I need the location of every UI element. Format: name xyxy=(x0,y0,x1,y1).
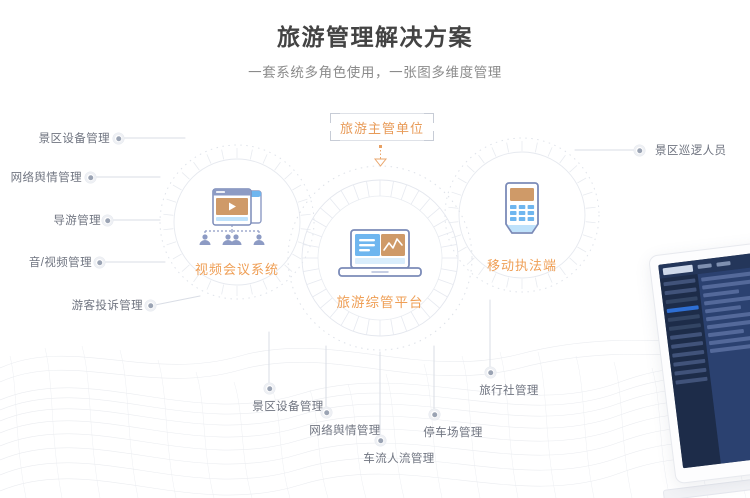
node-dot-bottom-1[interactable] xyxy=(264,383,275,394)
dashboard-sidebar-row xyxy=(672,350,704,358)
node-dot-bottom-5[interactable] xyxy=(485,367,496,378)
node-label-left-5: 游客投诉管理 xyxy=(33,299,143,313)
corner-bracket-tl xyxy=(330,113,340,123)
node-label-left-4: 音/视频管理 xyxy=(0,256,92,270)
dashboard-content-line xyxy=(707,319,750,329)
hub-mobile-enforcement[interactable]: 移动执法端 xyxy=(472,182,572,274)
dashboard-sidebar-row xyxy=(669,323,701,331)
dashboard-topnav-item xyxy=(716,261,730,267)
node-dot-left-1[interactable] xyxy=(113,133,124,144)
solution-infographic: 旅游管理解决方案 一套系统多角色使用，一张图多维度管理 xyxy=(0,0,750,498)
dashboard-topnav-item xyxy=(697,263,711,269)
node-dot-left-5[interactable] xyxy=(145,300,156,311)
hub-video-conference[interactable]: 视频会议系统 xyxy=(177,186,297,278)
box-edge-bottom xyxy=(340,140,424,141)
node-dot-left-4[interactable] xyxy=(94,257,105,268)
dashboard-brand-logo xyxy=(663,264,694,275)
dashboard-sidebar-row-active xyxy=(667,305,699,313)
connector-left-5 xyxy=(155,296,200,305)
node-dot-left-2[interactable] xyxy=(85,172,96,183)
video-window-icon xyxy=(177,186,297,248)
dashboard-screen xyxy=(658,248,750,469)
node-dot-bottom-3[interactable] xyxy=(375,435,386,446)
dashboard-sidebar-row xyxy=(664,287,696,295)
node-label-left-3: 导游管理 xyxy=(0,214,101,228)
node-dot-bottom-4[interactable] xyxy=(429,409,440,420)
dashboard-sidebar-row xyxy=(674,368,706,376)
dashboard-content-line xyxy=(705,305,741,313)
dashboard-content-line xyxy=(708,329,744,337)
authority-box[interactable]: 旅游主管单位 xyxy=(330,113,434,141)
dashboard-sidebar-row xyxy=(670,332,702,340)
dashboard-content-line xyxy=(702,279,750,289)
hub-caption-mobile-enforcement: 移动执法端 xyxy=(472,255,572,274)
laptop-dashboard-icon xyxy=(320,228,440,280)
dashboard-body xyxy=(660,261,750,468)
dashboard-content-line xyxy=(704,295,750,305)
dashboard-sidebar-row xyxy=(675,377,707,385)
node-label-bottom-4: 停车场管理 xyxy=(393,426,513,440)
node-label-bottom-2: 网络舆情管理 xyxy=(285,424,405,438)
hub-caption-video-conference: 视频会议系统 xyxy=(177,259,297,278)
dashboard-sidebar-row xyxy=(671,341,703,349)
dashboard-content-line xyxy=(710,343,750,353)
authority-label: 旅游主管单位 xyxy=(340,118,424,137)
dashboard-content-line xyxy=(703,289,739,297)
box-edge-top xyxy=(340,113,424,114)
node-label-right-1: 景区巡逻人员 xyxy=(655,144,750,158)
node-label-bottom-3: 车流人流管理 xyxy=(339,452,459,466)
node-dot-bottom-2[interactable] xyxy=(321,407,332,418)
dashboard-sidebar-row xyxy=(668,314,700,322)
dashboard-sidebar-row xyxy=(663,278,695,286)
corner-bracket-bl xyxy=(330,131,340,141)
hub-tourism-platform[interactable]: 旅游综管平台 xyxy=(320,228,440,311)
node-label-bottom-5: 旅行社管理 xyxy=(449,384,569,398)
corner-bracket-br xyxy=(424,131,434,141)
handheld-terminal-icon xyxy=(472,182,572,244)
corner-bracket-tr xyxy=(424,113,434,123)
node-dot-right-1[interactable] xyxy=(634,145,645,156)
node-dot-left-3[interactable] xyxy=(102,215,113,226)
node-label-left-1: 景区设备管理 xyxy=(0,132,110,146)
hub-caption-tourism-platform: 旅游综管平台 xyxy=(320,291,440,311)
dashboard-sidebar-row xyxy=(673,359,705,367)
dashboard-sidebar-row xyxy=(666,296,698,304)
node-label-left-2: 网络舆情管理 xyxy=(0,171,82,185)
